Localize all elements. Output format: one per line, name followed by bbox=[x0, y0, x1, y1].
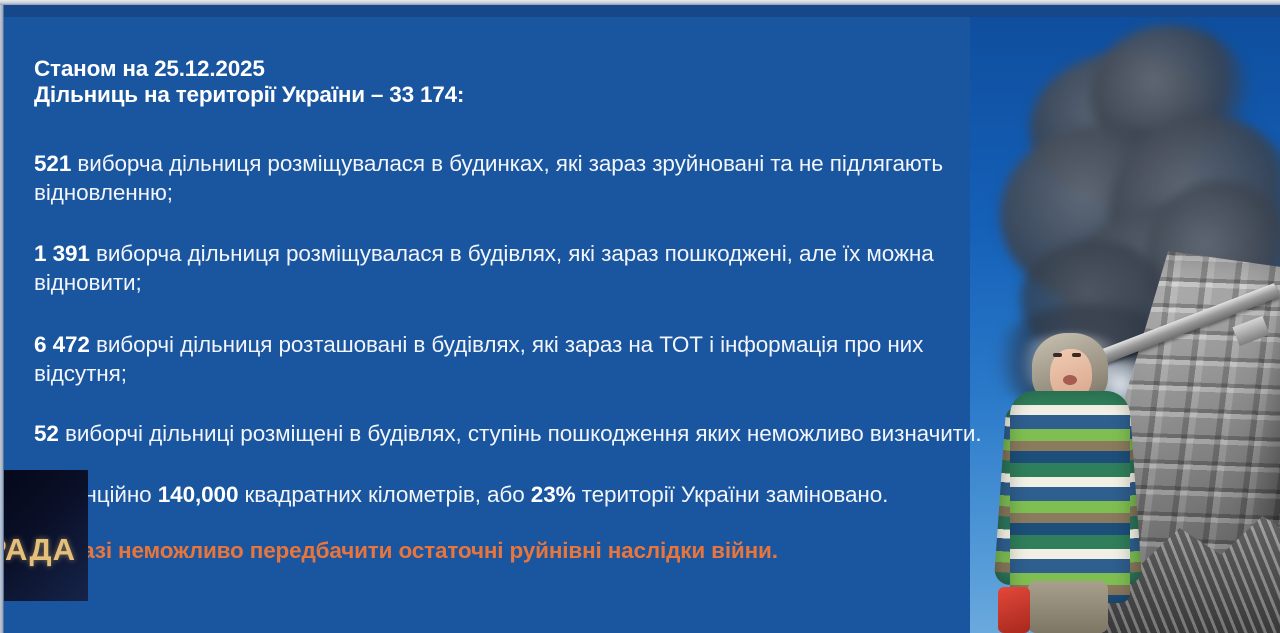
child-striped-jacket bbox=[1010, 391, 1130, 603]
heading-date: Станом на 25.12.2025 bbox=[34, 56, 1010, 82]
broadcast-watermark-overlay: РАДА bbox=[0, 470, 88, 601]
stat-number-52: 52 bbox=[34, 421, 59, 446]
child-figure bbox=[1002, 333, 1134, 633]
paragraph-undetermined-text: виборчі дільниці розміщені в будівлях, с… bbox=[59, 421, 982, 446]
heading-precincts-total: Дільниць на території України – 33 174: bbox=[34, 82, 1010, 108]
stat-number-1391: 1 391 bbox=[34, 241, 90, 266]
child-mouth bbox=[1063, 375, 1077, 385]
warning-text: разі неможливо передбачити остаточні руй… bbox=[69, 538, 778, 563]
top-edge-strip bbox=[0, 0, 1280, 5]
stat-area-140000: 140,000 bbox=[158, 482, 239, 507]
slide-text-content: Станом на 25.12.2025 Дільниць на територ… bbox=[0, 0, 1010, 633]
paragraph-damaged-text: виборча дільниця розміщувалася в будівля… bbox=[34, 241, 934, 295]
paragraph-mined-territory: Потенційно 140,000 квадратних кілометрів… bbox=[34, 480, 986, 509]
stat-percent-23: 23% bbox=[531, 482, 576, 507]
child-eye-left bbox=[1053, 353, 1062, 357]
rada-logo-text: РАДА bbox=[0, 532, 88, 568]
mined-country-text: їни заміновано. bbox=[729, 482, 889, 507]
paragraph-destroyed-text: виборча дільниця розміщувалася в будинка… bbox=[34, 151, 943, 205]
warning-line: На разі неможливо передбачити остаточні … bbox=[34, 537, 1010, 565]
paragraph-undetermined: 52 виборчі дільниці розміщені в будівлях… bbox=[34, 419, 986, 448]
mined-mid-text: квадратних кілометрів, або bbox=[238, 482, 530, 507]
mined-suffix-text: території bbox=[576, 482, 681, 507]
mined-country-occluded: Укра bbox=[681, 482, 729, 507]
child-eye-right bbox=[1072, 353, 1081, 357]
child-legs bbox=[1028, 581, 1108, 633]
paragraph-occupied-text: виборчі дільниця розташовані в будівлях,… bbox=[34, 332, 923, 386]
paragraph-destroyed: 521 виборча дільниця розміщувалася в буд… bbox=[34, 149, 986, 207]
paragraph-damaged: 1 391 виборча дільниця розміщувалася в б… bbox=[34, 239, 986, 297]
stat-number-6472: 6 472 bbox=[34, 332, 90, 357]
paragraph-occupied: 6 472 виборчі дільниця розташовані в буд… bbox=[34, 330, 986, 388]
stat-number-521: 521 bbox=[34, 151, 71, 176]
left-edge-strip bbox=[0, 5, 4, 633]
presentation-slide: Станом на 25.12.2025 Дільниць на територ… bbox=[0, 0, 1280, 633]
war-photo-collage bbox=[970, 5, 1280, 633]
